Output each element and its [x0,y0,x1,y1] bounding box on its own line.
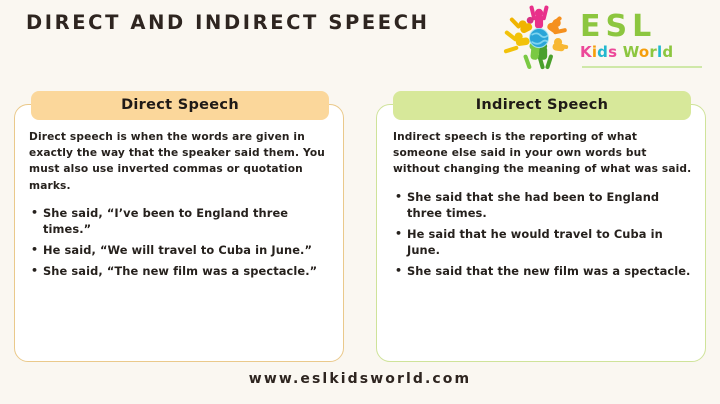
list-item: He said that he would travel to Cuba in … [393,226,693,259]
logo-underline [582,66,702,68]
list-item: She said that the new film was a spectac… [393,263,693,280]
page-header: DIRECT AND INDIRECT SPEECH [0,0,720,84]
content-cards: Direct Speech Direct speech is when the … [0,104,720,362]
example-list-indirect-speech: She said that she had been to England th… [393,189,693,280]
page-footer: www.eslkidsworld.com [0,362,720,404]
logo-kids-world-text: Kids World [580,43,704,61]
page-title: DIRECT AND INDIRECT SPEECH [26,10,456,36]
card-description-indirect-speech: Indirect speech is the reporting of what… [393,129,693,178]
list-item: She said, “I’ve been to England three ti… [29,205,331,238]
card-indirect-speech: Indirect Speech Indirect speech is the r… [376,104,706,362]
card-body-indirect-speech: Indirect speech is the reporting of what… [393,129,693,284]
list-item: She said, “The new film was a spectacle.… [29,263,331,280]
logo-wordmark: ESL Kids World [580,10,704,70]
example-list-direct-speech: She said, “I’ve been to England three ti… [29,205,331,279]
website-url[interactable]: www.eslkidsworld.com [0,371,720,387]
logo-esl-text: ESL [580,10,704,44]
brand-logo[interactable]: ESL Kids World [498,4,708,74]
card-description-direct-speech: Direct speech is when the words are give… [29,129,331,194]
card-heading-indirect-speech: Indirect Speech [393,91,691,120]
children-around-globe-icon [502,4,576,72]
card-body-direct-speech: Direct speech is when the words are give… [29,129,331,283]
card-heading-direct-speech: Direct Speech [31,91,329,120]
list-item: She said that she had been to England th… [393,189,693,222]
card-direct-speech: Direct Speech Direct speech is when the … [14,104,344,362]
list-item: He said, “We will travel to Cuba in June… [29,242,331,259]
